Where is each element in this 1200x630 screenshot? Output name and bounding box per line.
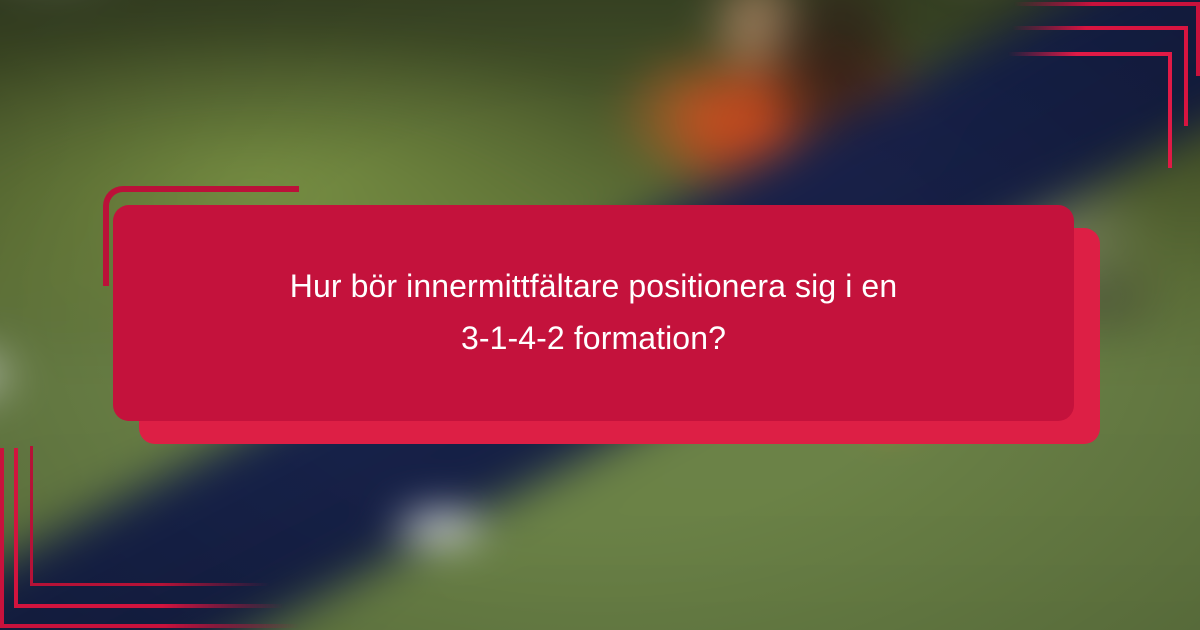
social-card-canvas: Hur bör innermittfältare positionera sig… <box>0 0 1200 630</box>
corner-bracket-bottom-left-3 <box>30 446 270 586</box>
corner-bracket-top-right-3 <box>1008 52 1172 168</box>
headline-text: Hur bör innermittfältare positionera sig… <box>113 205 1074 421</box>
